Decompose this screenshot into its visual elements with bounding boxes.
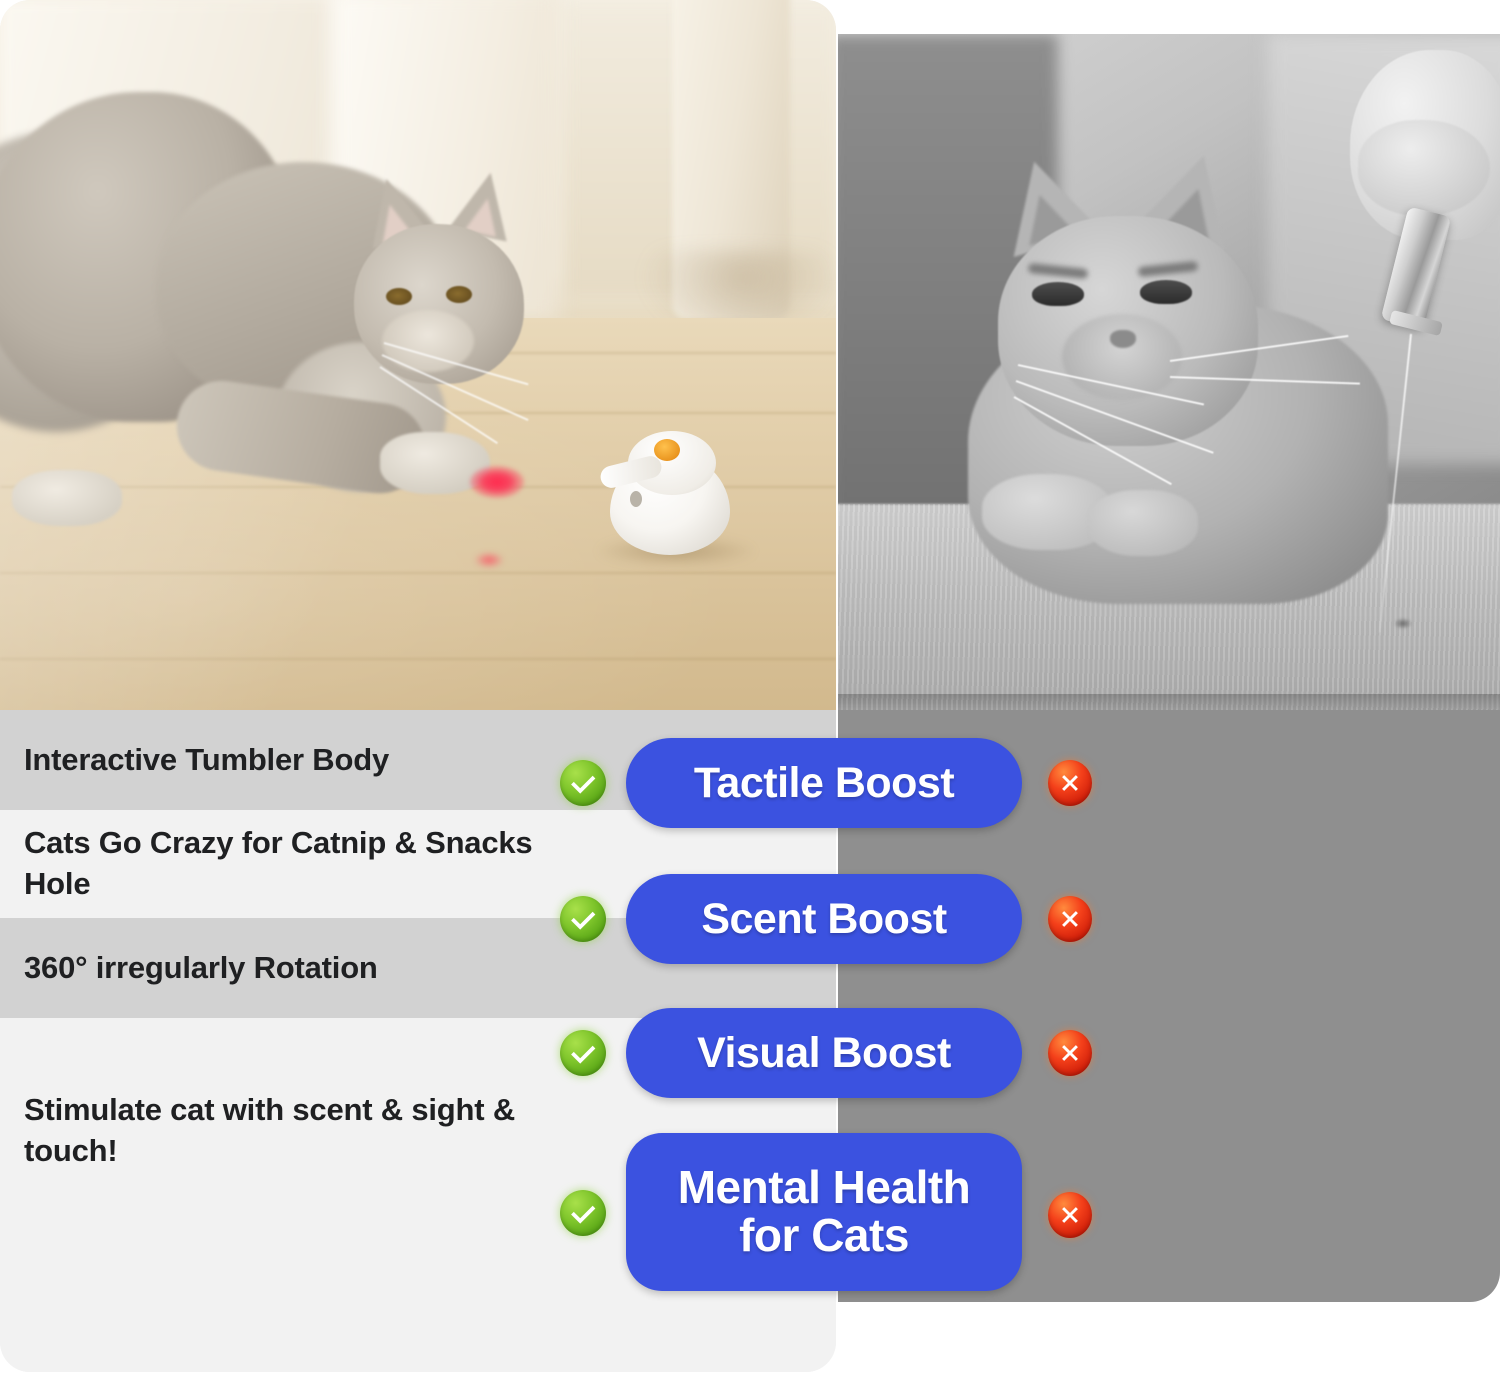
x-circle-icon xyxy=(1048,896,1092,942)
benefit-pill-label: Tactile Boost xyxy=(694,761,954,806)
cat-paw-rear xyxy=(12,470,122,526)
laser-beam-dot xyxy=(1394,618,1412,629)
laser-dot-reflection xyxy=(474,552,504,568)
benefit-pill-label: Scent Boost xyxy=(701,897,946,942)
left-feature-label: Stimulate cat with scent & sight & touch… xyxy=(0,1090,552,1172)
cat-muzzle xyxy=(382,310,474,372)
tumbler-toy xyxy=(592,425,742,555)
benefit-pill-tactile: Tactile Boost xyxy=(626,738,1022,828)
toy-orange-button xyxy=(654,439,680,461)
toy-snack-hole xyxy=(630,491,642,507)
benefit-pill-scent: Scent Boost xyxy=(626,874,1022,964)
benefit-pill-label: Visual Boost xyxy=(697,1031,951,1076)
check-circle-icon xyxy=(560,760,606,806)
hand-finger xyxy=(1358,120,1490,216)
cat-eye-right xyxy=(446,286,472,303)
benefit-pill-mental-health: Mental Health for Cats xyxy=(626,1133,1022,1291)
left-feature-label: 360° irregularly Rotation xyxy=(0,948,552,989)
cat-with-laser-pointer-photo-grayscale xyxy=(838,34,1500,710)
benefit-pill-visual: Visual Boost xyxy=(626,1008,1022,1098)
x-circle-icon xyxy=(1048,760,1092,806)
left-feature-label: Cats Go Crazy for Catnip & Snacks Hole xyxy=(0,823,552,905)
left-feature-label: Interactive Tumbler Body xyxy=(0,740,552,781)
photo-cat xyxy=(0,92,596,592)
cat-chasing-laser-tumbler-photo xyxy=(0,0,836,710)
cat-paw-right xyxy=(1088,490,1198,556)
cat-eye-left xyxy=(386,288,412,305)
cat-eye-left xyxy=(1032,282,1084,306)
check-circle-icon xyxy=(560,1190,606,1236)
benefit-pill-label-line1: Mental Health xyxy=(678,1164,971,1212)
cat-nose xyxy=(1110,330,1136,348)
photo-grey-cat xyxy=(958,154,1408,614)
benefit-pill-label-line2: for Cats xyxy=(739,1212,909,1260)
check-circle-icon xyxy=(560,1030,606,1076)
photo-bottom-shadow xyxy=(838,694,1500,710)
x-circle-icon xyxy=(1048,1192,1092,1238)
right-product-panel: Untouchable Light Alone None Only repeti… xyxy=(838,34,1500,1302)
check-circle-icon xyxy=(560,896,606,942)
comparison-infographic: Interactive Tumbler Body Cats Go Crazy f… xyxy=(0,0,1500,1379)
laser-dot xyxy=(470,466,524,498)
x-circle-icon xyxy=(1048,1030,1092,1076)
cat-eye-right xyxy=(1140,280,1192,304)
